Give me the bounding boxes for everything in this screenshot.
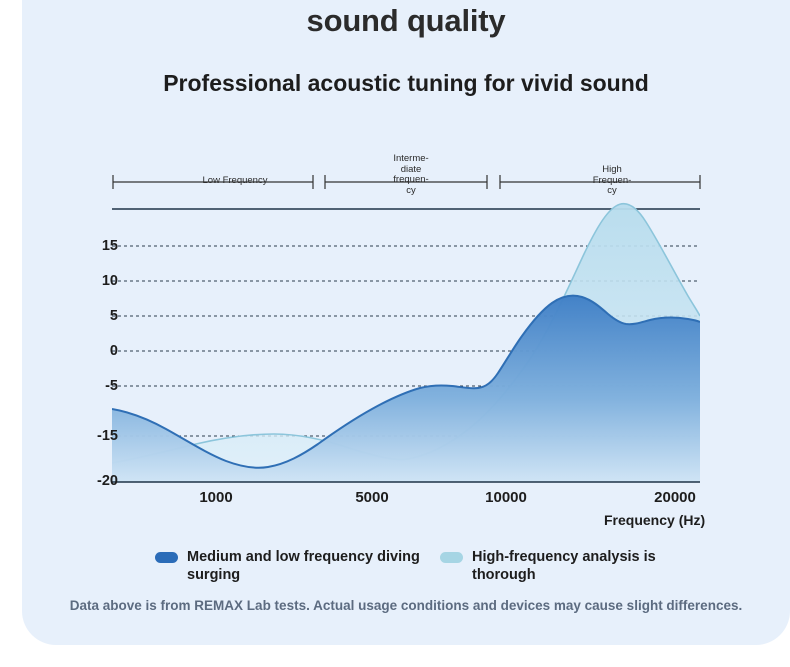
ytick-label: 15 <box>78 238 118 254</box>
ytick-label: 10 <box>78 273 118 289</box>
ytick-label: -20 <box>78 473 118 489</box>
legend-swatch-high-frequency <box>440 552 463 563</box>
sound-quality-card: sound quality Professional acoustic tuni… <box>22 0 790 645</box>
xtick-label: 1000 <box>171 489 261 506</box>
legend-swatch-medium-low <box>155 552 178 563</box>
ytick-label: 0 <box>78 343 118 359</box>
ytick-label: 5 <box>78 308 118 324</box>
legend-label-medium-low: Medium and low frequency diving surging <box>187 548 437 584</box>
legend-item-high-frequency: High-frequency analysis is thorough <box>440 548 722 584</box>
ytick-label: -5 <box>78 378 118 394</box>
xtick-label: 5000 <box>327 489 417 506</box>
xtick-label: 10000 <box>461 489 551 506</box>
series-area-medium-low-frequency <box>112 296 700 482</box>
ytick-label: -15 <box>78 428 118 444</box>
x-axis-title: Frequency (Hz) <box>604 512 705 528</box>
legend-label-high-frequency: High-frequency analysis is thorough <box>472 548 722 584</box>
footnote-disclaimer: Data above is from REMAX Lab tests. Actu… <box>22 598 790 613</box>
xtick-label: 20000 <box>630 489 720 506</box>
legend-item-medium-low: Medium and low frequency diving surging <box>155 548 437 584</box>
